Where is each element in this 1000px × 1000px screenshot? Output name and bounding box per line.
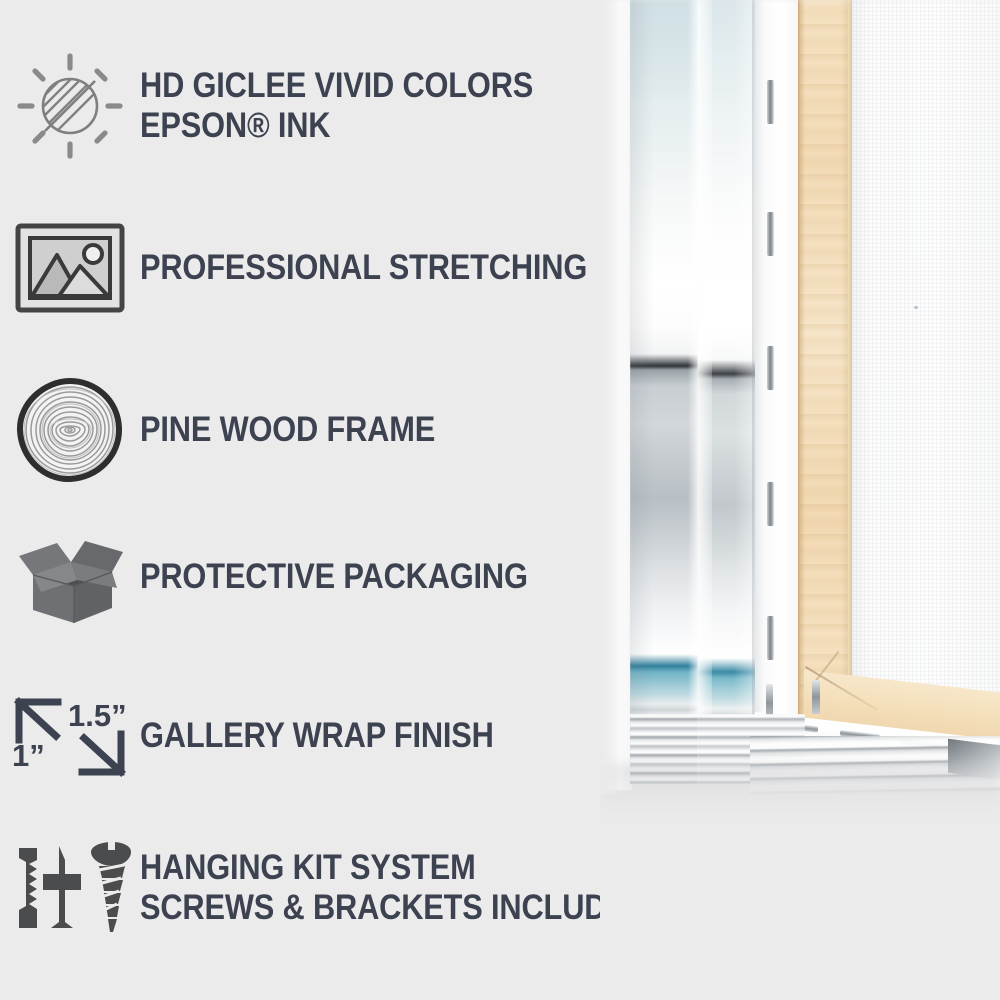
print-edge-shading <box>630 0 760 784</box>
feature-row-professional-stretching: PROFESSIONAL STRETCHING <box>0 222 648 314</box>
feature-label: PROFESSIONAL STRETCHING <box>140 248 587 288</box>
sun-hatched-circle-icon <box>0 52 140 160</box>
staple <box>767 212 774 256</box>
staple <box>767 80 774 124</box>
feature-label: PROTECTIVE PACKAGING <box>140 557 528 597</box>
staple <box>767 616 774 660</box>
open-cardboard-box-icon <box>0 528 140 626</box>
canvas-backing <box>852 0 1000 764</box>
feature-label: HANGING KIT SYSTEM SCREWS & BRACKETS INC… <box>140 848 649 928</box>
staple <box>767 482 774 526</box>
staple <box>812 680 820 714</box>
framed-picture-icon <box>0 222 140 314</box>
left-edge-fade <box>600 0 626 794</box>
canvas-frame-corner-photo <box>600 0 1000 1000</box>
canvas-speck <box>914 306 918 309</box>
staple <box>767 346 774 390</box>
diagonal-dimension-arrows-icon: 1.5” 1” <box>0 688 140 784</box>
depth-bottom-label: 1” <box>12 738 45 773</box>
hanging-hardware-icon <box>0 840 140 936</box>
feature-row-hd-giclee: HD GICLEE VIVID COLORS EPSON® INK <box>0 52 587 160</box>
feature-list: HD GICLEE VIVID COLORS EPSON® INK PROFES… <box>0 0 660 1000</box>
feature-row-protective-packaging: PROTECTIVE PACKAGING <box>0 528 581 626</box>
feature-label: GALLERY WRAP FINISH <box>140 716 494 756</box>
stretched-canvas-object <box>600 0 1000 800</box>
feature-row-pine-wood-frame: PINE WOOD FRAME <box>0 378 475 482</box>
pine-stretcher-bar <box>800 0 852 754</box>
wood-growth-rings-icon <box>0 378 140 482</box>
ground-shadow <box>600 764 1000 814</box>
feature-row-gallery-wrap-finish: 1.5” 1” GALLERY WRAP FINISH <box>0 688 542 784</box>
infographic-root: HD GICLEE VIVID COLORS EPSON® INK PROFES… <box>0 0 1000 1000</box>
feature-label: HD GICLEE VIVID COLORS EPSON® INK <box>140 66 533 146</box>
feature-label: PINE WOOD FRAME <box>140 410 435 450</box>
depth-top-label: 1.5” <box>68 698 127 733</box>
top-edge-fade <box>600 0 1000 4</box>
